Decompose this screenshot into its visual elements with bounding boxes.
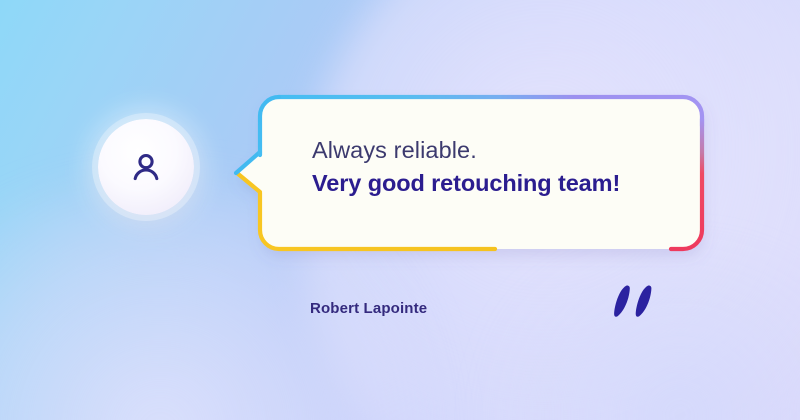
quote-line-2: Very good retouching team! xyxy=(312,168,682,199)
quote-line-1: Always reliable. xyxy=(312,135,682,166)
background-blob-shape xyxy=(470,250,800,420)
quote-mark-icon xyxy=(612,283,664,330)
speech-bubble: Always reliable. Very good retouching te… xyxy=(233,93,706,253)
author-name: Robert Lapointe xyxy=(310,300,427,317)
quote-text-block: Always reliable. Very good retouching te… xyxy=(312,135,682,200)
testimonial-card: Always reliable. Very good retouching te… xyxy=(0,0,800,420)
user-icon xyxy=(126,147,166,187)
avatar xyxy=(98,119,194,215)
